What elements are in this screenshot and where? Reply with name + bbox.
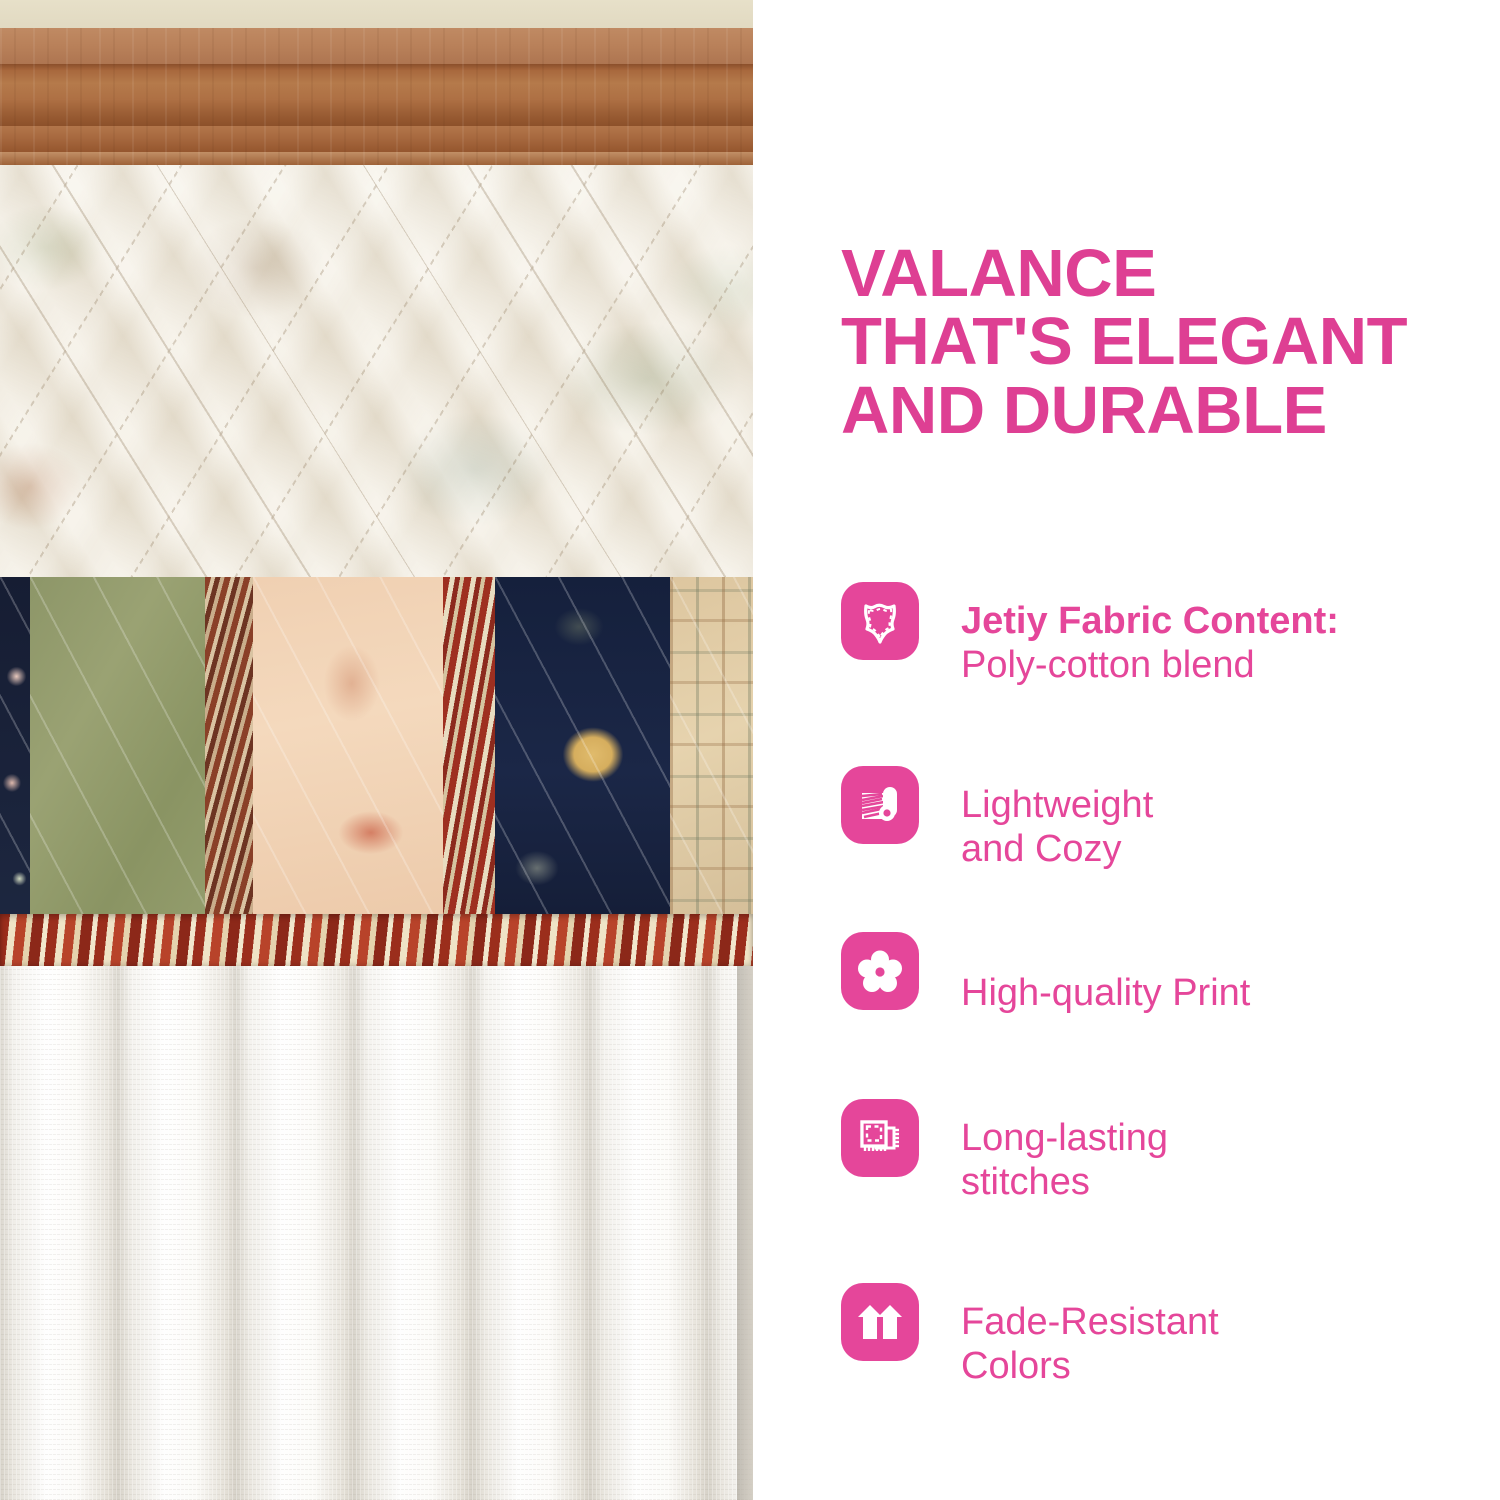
product-photo <box>0 0 753 1500</box>
wood-grain-texture <box>0 28 753 165</box>
double-up-arrow-icon <box>841 1283 919 1361</box>
patch-floral-binding-strip <box>205 577 253 932</box>
list-item: Jetiy Fabric Content:Poly-cotton blend <box>841 555 1440 687</box>
patch-quilting <box>30 577 205 932</box>
list-item: Long-lasting stitches <box>841 1071 1440 1203</box>
patch-quilting <box>670 577 753 932</box>
patch-navy-floral-left <box>0 577 30 932</box>
list-item-text: Long-lasting stitches <box>961 1071 1168 1203</box>
list-item-text: Jetiy Fabric Content:Poly-cotton blend <box>961 555 1339 687</box>
linen-weave-texture <box>0 966 753 1500</box>
list-item-value: Poly-cotton blend <box>961 644 1255 686</box>
wood-cornice-board <box>0 28 753 165</box>
fabric-roll-icon <box>841 766 919 844</box>
patch-rust-floral-strip <box>443 577 495 932</box>
patchwork-strip <box>0 577 753 932</box>
content-panel: VALANCE THAT'S ELEGANT AND DURABLE Jetiy… <box>753 0 1500 1500</box>
leather-hide-icon <box>841 582 919 660</box>
feature-list: Jetiy Fabric Content:Poly-cotton blend <box>841 555 1440 1388</box>
list-item: Fade-Resistant Colors <box>841 1256 1440 1388</box>
patch-navy-gold-flower <box>495 577 670 932</box>
patch-quilting <box>495 577 670 932</box>
list-item-value: Fade-Resistant Colors <box>961 1301 1219 1387</box>
list-item-text: Fade-Resistant Colors <box>961 1256 1219 1388</box>
patch-peach-floral <box>253 577 443 932</box>
flower-icon <box>841 932 919 1010</box>
sheer-linen-curtain <box>0 966 753 1500</box>
patch-quilting <box>253 577 443 932</box>
list-item-text: Lightweight and Cozy <box>961 739 1153 871</box>
list-item-value: Lightweight and Cozy <box>961 784 1153 870</box>
promo-banner: VALANCE THAT'S ELEGANT AND DURABLE Jetiy… <box>0 0 1500 1500</box>
patch-tan-plaid <box>670 577 753 932</box>
list-item: High-quality Print <box>841 923 1440 1019</box>
list-item-text: High-quality Print <box>961 927 1250 1015</box>
page-title: VALANCE THAT'S ELEGANT AND DURABLE <box>841 240 1440 445</box>
stitched-fabric-stack-icon <box>841 1099 919 1177</box>
quilted-cream-panel <box>0 165 753 577</box>
list-item: Lightweight and Cozy <box>841 739 1440 871</box>
rust-floral-binding-trim <box>0 914 753 968</box>
list-item-lead: Jetiy Fabric Content: <box>961 599 1339 643</box>
list-item-value: Long-lasting stitches <box>961 1117 1168 1203</box>
list-item-value: High-quality Print <box>961 972 1250 1014</box>
patch-sage-green <box>30 577 205 932</box>
diamond-stitch-lines <box>0 165 753 577</box>
curtain-right-edge <box>737 966 753 1500</box>
patch-quilting <box>0 577 30 932</box>
